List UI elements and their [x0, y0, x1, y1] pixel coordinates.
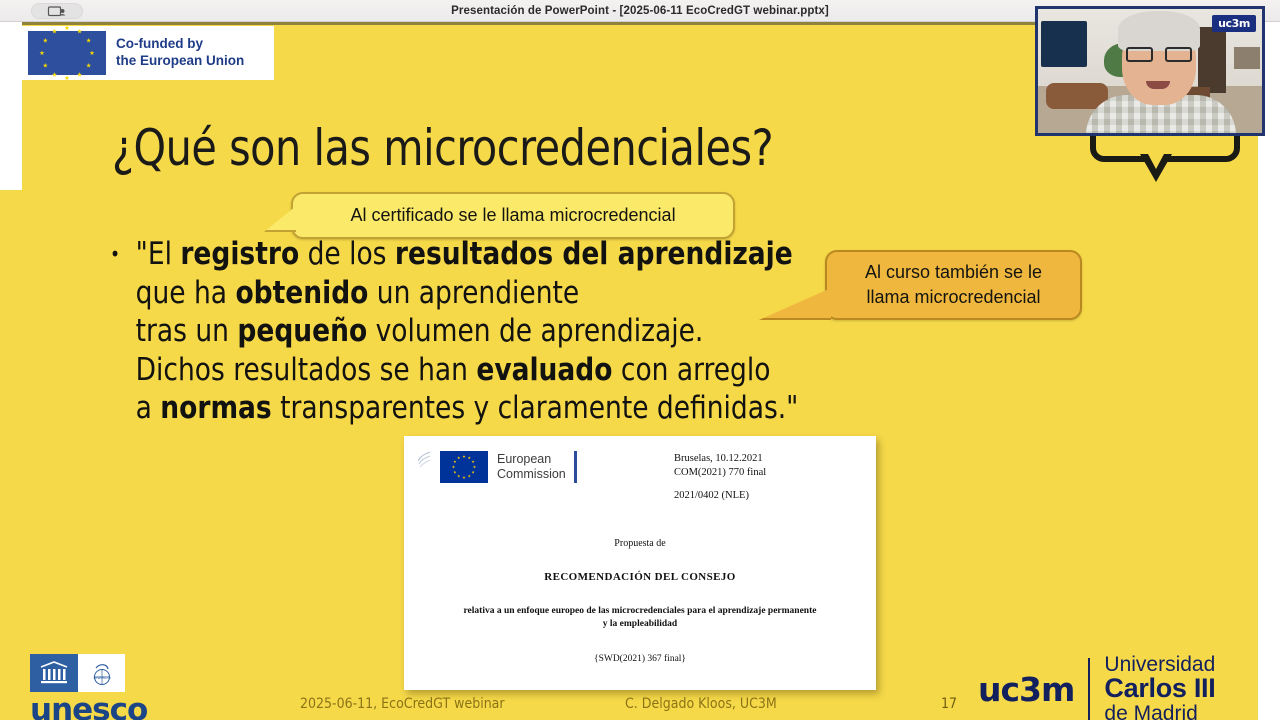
eu-star — [52, 29, 57, 34]
eu-flag-icon — [28, 31, 106, 75]
quote-line: que ha obtenido un aprendiente — [136, 274, 861, 313]
webcam-wall-screen — [1041, 21, 1087, 67]
eu-star — [468, 474, 471, 477]
document-subtitle-line2: y la empleabilidad — [424, 618, 856, 632]
quote-emphasis: evaluado — [476, 352, 612, 388]
quote-text: de los — [299, 236, 395, 272]
slide-page-number: 17 — [941, 696, 957, 712]
window-title: Presentación de PowerPoint - [2025-06-11… — [451, 5, 829, 17]
quote-text: Dichos resultados se han — [136, 352, 477, 388]
quote-emphasis: normas — [160, 390, 271, 426]
callout-curso-line2: llama microcredencial — [866, 285, 1040, 310]
unesco-emblem-box: UNESCO — [30, 654, 125, 692]
eu-star — [77, 72, 82, 77]
webcam-speaker-hair — [1118, 11, 1200, 51]
quote-text: transparentes y claramente definidas." — [272, 390, 799, 426]
screen-share-icon — [47, 6, 67, 17]
footer-event-label: 2025-06-11, EcoCredGT webinar — [300, 696, 505, 712]
document-title: RECOMENDACIÓN DEL CONSEJO — [418, 571, 862, 583]
eu-star — [473, 465, 476, 468]
document-proposal-label: Propuesta de — [418, 538, 862, 549]
quote-line: a normas transparentes y claramente defi… — [136, 389, 861, 428]
eu-star — [457, 456, 460, 459]
quote-emphasis: resultados del aprendizaje — [395, 236, 793, 272]
callout-certificado: Al certificado se le llama microcredenci… — [291, 192, 735, 239]
quote-text: a — [136, 390, 161, 426]
quote-text: un aprendiente — [368, 275, 579, 311]
logo-swoosh-icon — [418, 450, 430, 484]
document-swd-ref: {SWD(2021) 367 final} — [418, 654, 862, 664]
eu-star — [86, 38, 91, 43]
bullet-marker: • — [110, 235, 120, 274]
quote-emphasis: pequeño — [237, 313, 367, 349]
eu-flag-icon — [440, 451, 488, 483]
unesco-chair-emblem-icon: UNESCO — [78, 654, 125, 692]
eu-star — [43, 38, 48, 43]
eu-cofunded-line2: the European Union — [116, 53, 244, 70]
webcam-wall-panel — [1234, 47, 1260, 69]
uc3m-wordmark: uc3m — [978, 670, 1074, 709]
eu-star — [468, 456, 471, 459]
webcam-door — [1198, 27, 1226, 93]
document-subtitle: relativa a un enfoque europeo de las mic… — [418, 605, 862, 633]
european-commission-text: European Commission — [497, 452, 566, 482]
eu-star — [43, 63, 48, 68]
slide-left-margin — [0, 22, 22, 190]
eu-star — [77, 29, 82, 34]
uc3m-name-line2: Carlos III — [1104, 675, 1215, 703]
quote-line: Dichos resultados se han evaluado con ar… — [136, 351, 861, 390]
document-procedure-ref: 2021/0402 (NLE) — [674, 489, 766, 503]
uc3m-name-line3: de Madrid — [1104, 703, 1215, 720]
eu-star — [457, 474, 460, 477]
glasses-icon — [1126, 47, 1192, 62]
callout-curso-line1: Al curso también se le — [865, 260, 1042, 285]
quote-text: que ha — [136, 275, 236, 311]
eu-star — [471, 471, 474, 474]
eu-star — [89, 50, 94, 55]
eu-recommendation-document: European Commission Bruselas, 10.12.2021… — [404, 436, 876, 690]
uc3m-logo: uc3m Universidad Carlos III de Madrid — [978, 654, 1215, 720]
chair-emblem-glyph-icon: UNESCO — [87, 660, 117, 686]
document-meta: Bruselas, 10.12.2021 COM(2021) 770 final… — [674, 452, 766, 504]
quote-emphasis: registro — [180, 236, 299, 272]
document-subtitle-line1: relativa a un enfoque europeo de las mic… — [424, 605, 856, 619]
quote-lines: "El registro de los resultados del apren… — [110, 235, 861, 428]
eu-star — [452, 465, 455, 468]
eu-star — [52, 72, 57, 77]
eu-star — [64, 25, 69, 30]
callout-curso: Al curso también se le llama microcreden… — [825, 250, 1082, 320]
webcam-video-feed[interactable]: uc3m — [1035, 6, 1265, 136]
callout-certificado-text: Al certificado se le llama microcredenci… — [350, 203, 675, 228]
quote-line: "El registro de los resultados del apren… — [136, 235, 861, 274]
quote-text: "El — [136, 236, 181, 272]
document-com-ref: COM(2021) 770 final — [674, 466, 766, 480]
document-place-date: Bruselas, 10.12.2021 — [674, 452, 766, 466]
unesco-chair-logo: UNESCO unesco Chair Scalable Digital Edu… — [30, 654, 230, 720]
eu-star — [64, 75, 69, 80]
document-header: European Commission Bruselas, 10.12.2021… — [418, 450, 862, 504]
webcam-uc3m-badge: uc3m — [1212, 15, 1256, 32]
eu-star — [462, 476, 465, 479]
quote-line: tras un pequeño volumen de aprendizaje. — [136, 312, 861, 351]
eu-star — [471, 460, 474, 463]
slide-body-quote: • "El registro de los resultados del apr… — [110, 235, 861, 428]
eu-cofunded-line1: Co-funded by — [116, 36, 244, 53]
unesco-wordmark: unesco — [30, 695, 230, 720]
ec-line1: European — [497, 452, 566, 467]
document-body: Propuesta de RECOMENDACIÓN DEL CONSEJO r… — [418, 538, 862, 665]
european-commission-logo: European Commission — [418, 450, 656, 484]
svg-text:UNESCO: UNESCO — [93, 675, 110, 680]
logo-divider — [574, 451, 577, 483]
footer-author-label: C. Delgado Kloos, UC3M — [625, 696, 777, 712]
eu-star — [86, 63, 91, 68]
slide-title: ¿Qué son las microcredenciales? — [112, 119, 773, 177]
quote-text: tras un — [136, 313, 238, 349]
eu-cofunded-badge: Co-funded by the European Union — [22, 26, 274, 80]
unesco-temple-icon — [30, 654, 78, 692]
temple-glyph-icon — [39, 661, 69, 685]
eu-star — [453, 460, 456, 463]
callout-tail — [264, 206, 296, 232]
eu-star — [462, 455, 465, 458]
eu-cofunded-text: Co-funded by the European Union — [116, 36, 244, 70]
uc3m-fullname: Universidad Carlos III de Madrid — [1104, 654, 1215, 720]
screen-share-indicator[interactable] — [31, 3, 83, 19]
screen-share-view: Presentación de PowerPoint - [2025-06-11… — [0, 0, 1280, 720]
quote-emphasis: obtenido — [235, 275, 368, 311]
eu-star — [453, 471, 456, 474]
eu-star — [39, 50, 44, 55]
uc3m-divider — [1088, 658, 1090, 720]
uc3m-name-line1: Universidad — [1104, 654, 1215, 675]
quote-text: volumen de aprendizaje. — [367, 313, 703, 349]
quote-text: con arreglo — [612, 352, 770, 388]
ec-line2: Commission — [497, 467, 566, 482]
